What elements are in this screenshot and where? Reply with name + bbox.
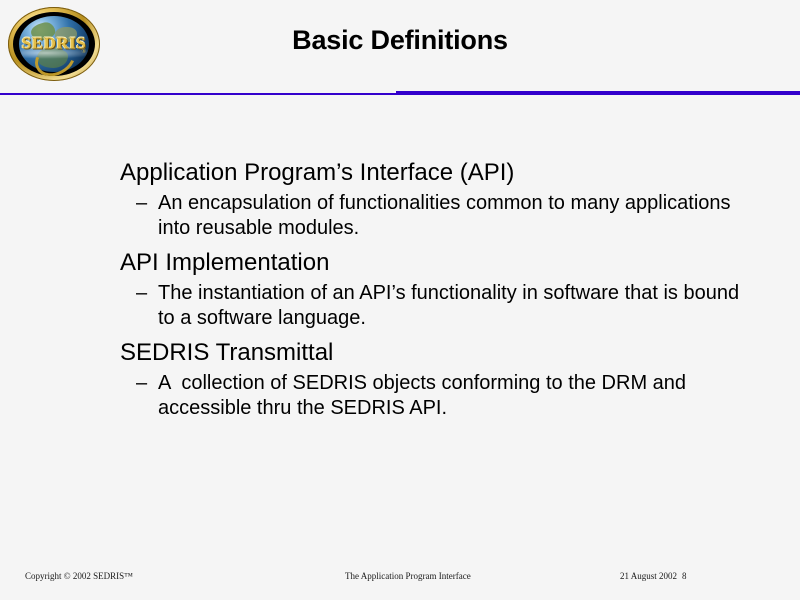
- definition-term: API Implementation: [120, 248, 740, 278]
- definition-group: Application Program’s Interface (API) – …: [120, 158, 740, 241]
- dash-bullet-icon: –: [136, 281, 158, 331]
- dash-bullet-icon: –: [136, 191, 158, 241]
- page-title: Basic Definitions: [110, 25, 690, 56]
- logo-trademark-icon: ®: [81, 49, 86, 55]
- definition-detail: – The instantiation of an API’s function…: [136, 281, 740, 331]
- sedris-logo: SEDRIS ®: [8, 7, 100, 81]
- dash-bullet-icon: –: [136, 371, 158, 421]
- footer-date: 21 August 2002: [620, 571, 677, 581]
- definition-term: Application Program’s Interface (API): [120, 158, 740, 188]
- definition-detail: – A collection of SEDRIS objects conform…: [136, 371, 740, 421]
- definition-detail-text: A collection of SEDRIS objects conformin…: [158, 371, 740, 421]
- header-rule-left: [0, 93, 396, 95]
- logo-black-disc: SEDRIS ®: [13, 12, 95, 76]
- definition-group: API Implementation – The instantiation o…: [120, 248, 740, 331]
- slide: SEDRIS ® Basic Definitions Application P…: [0, 0, 800, 600]
- definition-term: SEDRIS Transmittal: [120, 338, 740, 368]
- header-rule-right: [396, 91, 800, 95]
- footer-copyright: Copyright © 2002 SEDRIS™: [25, 571, 133, 581]
- definition-detail-text: The instantiation of an API’s functional…: [158, 281, 740, 331]
- definition-group: SEDRIS Transmittal – A collection of SED…: [120, 338, 740, 421]
- definition-detail: – An encapsulation of functionalities co…: [136, 191, 740, 241]
- slide-body: Application Program’s Interface (API) – …: [120, 158, 740, 428]
- definition-detail-text: An encapsulation of functionalities comm…: [158, 191, 740, 241]
- footer-page-number: 8: [682, 571, 687, 581]
- footer-presentation-title: The Application Program Interface: [345, 571, 471, 581]
- footer-date-and-page: 21 August 20028: [620, 571, 687, 581]
- slide-footer: Copyright © 2002 SEDRIS™ The Application…: [0, 571, 800, 587]
